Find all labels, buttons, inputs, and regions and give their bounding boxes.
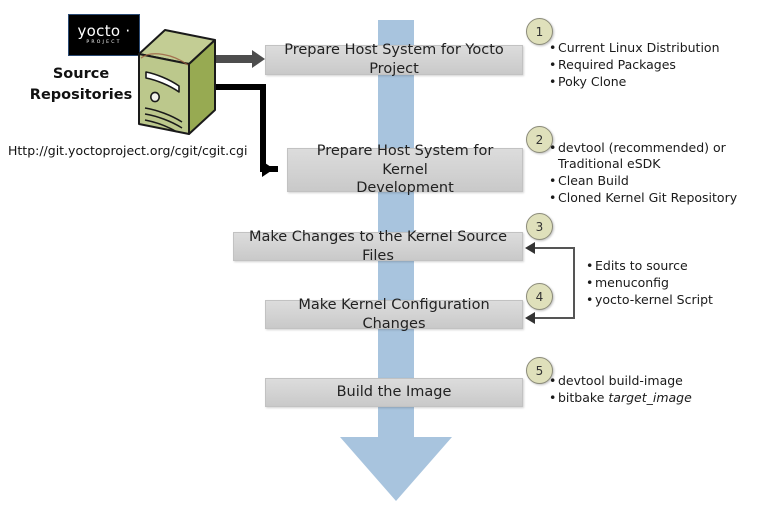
bullet-marker: • <box>549 74 558 90</box>
list-item: • yocto-kernel Script <box>586 292 756 308</box>
step-4-box[interactable]: Make Kernel Configuration Changes <box>265 300 523 329</box>
step-1-box[interactable]: Prepare Host System for Yocto Project <box>265 45 523 75</box>
source-repository-url: Http://git.yoctoproject.org/cgit/cgit.cg… <box>8 143 247 158</box>
steps-3-4-shared-bullets: • Edits to source • menuconfig • yocto-k… <box>586 258 756 309</box>
bullet-marker: • <box>549 57 558 73</box>
server-icon <box>135 28 219 140</box>
bracket-arm-bottom <box>535 317 575 319</box>
step-5-box[interactable]: Build the Image <box>265 378 523 407</box>
arrow-head-step4-feedback <box>525 312 535 324</box>
step-3-box[interactable]: Make Changes to the Kernel Source Files <box>233 232 523 261</box>
bullet-marker: • <box>549 140 558 172</box>
step-2-box-line2: Development <box>356 179 454 198</box>
connector-server-to-step2-horizontal-top <box>216 84 266 90</box>
bullet-text: Current Linux Distribution <box>558 40 720 56</box>
bullet-text: Cloned Kernel Git Repository <box>558 190 737 206</box>
logo-wordmark: yocto · <box>78 24 131 39</box>
step-3-number-badge: 3 <box>526 213 553 240</box>
bracket-vertical <box>573 247 575 319</box>
arrow-head-step3-feedback <box>525 242 535 254</box>
step-5-bullets: • devtool build-image • bitbake target_i… <box>549 373 739 407</box>
logo-subtext: PROJECT <box>86 39 121 46</box>
list-item: • Poky Clone <box>549 74 749 90</box>
list-item: • Required Packages <box>549 57 749 73</box>
bullet-text-italic: target_image <box>608 390 691 406</box>
flow-arrow-head <box>340 437 452 501</box>
list-item: • Clean Build <box>549 173 754 189</box>
bullet-text: Edits to source <box>595 258 688 274</box>
bullet-marker: • <box>586 275 595 291</box>
bullet-marker: • <box>586 258 595 274</box>
bullet-marker: • <box>586 292 595 308</box>
bullet-text: yocto-kernel Script <box>595 292 713 308</box>
step-4-number-badge: 4 <box>526 283 553 310</box>
bullet-text: Required Packages <box>558 57 676 73</box>
bullet-text: menuconfig <box>595 275 669 291</box>
bullet-text: devtool (recommended) or Traditional eSD… <box>558 140 754 172</box>
source-label-line2: Repositories <box>22 85 140 106</box>
arrow-head-step2 <box>262 161 274 177</box>
bullet-text-prefix: bitbake <box>558 390 608 406</box>
list-item: • bitbake target_image <box>549 390 739 406</box>
bullet-marker: • <box>549 173 558 189</box>
list-item: • menuconfig <box>586 275 756 291</box>
yocto-project-logo: yocto · PROJECT <box>68 14 140 56</box>
source-label-line1: Source <box>22 64 140 85</box>
bullet-marker: • <box>549 190 558 206</box>
arrow-head-step1 <box>252 50 265 68</box>
list-item: • Cloned Kernel Git Repository <box>549 190 754 206</box>
step-2-box[interactable]: Prepare Host System for Kernel Developme… <box>287 148 523 192</box>
source-repositories-label: Source Repositories <box>22 64 140 106</box>
step-2-bullets: • devtool (recommended) or Traditional e… <box>549 140 754 207</box>
bullet-text: devtool build-image <box>558 373 683 389</box>
list-item: • Edits to source <box>586 258 756 274</box>
bullet-marker: • <box>549 40 558 56</box>
list-item: • Current Linux Distribution <box>549 40 749 56</box>
bullet-marker: • <box>549 390 558 406</box>
bullet-text: Clean Build <box>558 173 629 189</box>
list-item: • devtool build-image <box>549 373 739 389</box>
connector-server-to-step2-vertical <box>260 84 266 172</box>
bracket-arm-top <box>535 247 575 249</box>
connector-server-to-step1 <box>216 55 256 63</box>
list-item: • devtool (recommended) or Traditional e… <box>549 140 754 172</box>
diagram-canvas: yocto · PROJECT Source Repositories Http… <box>0 0 769 517</box>
step-2-box-line1: Prepare Host System for Kernel <box>296 142 514 180</box>
bullet-text: Poky Clone <box>558 74 626 90</box>
step-1-bullets: • Current Linux Distribution • Required … <box>549 40 749 91</box>
bullet-marker: • <box>549 373 558 389</box>
